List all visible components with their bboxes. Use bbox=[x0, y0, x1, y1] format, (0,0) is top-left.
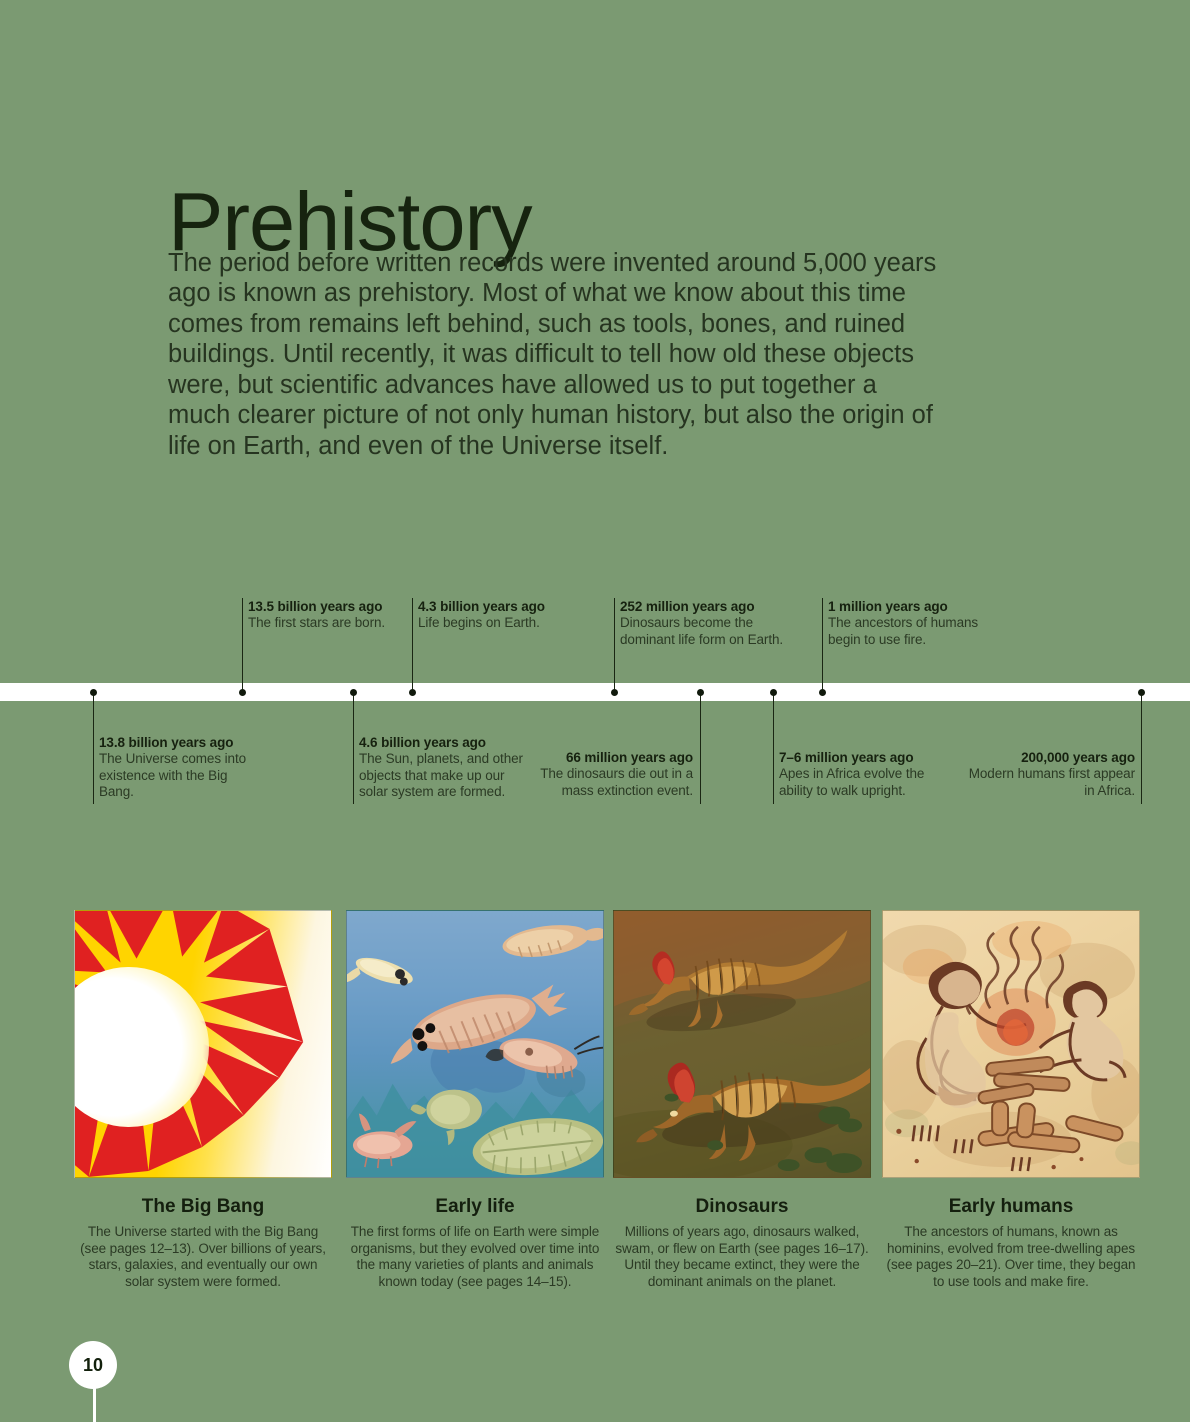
timeline-event-year: 200,000 years ago bbox=[965, 749, 1135, 766]
big-bang-starburst-icon bbox=[74, 910, 332, 1178]
card-big-bang[interactable]: The Big Bang The Universe started with t… bbox=[74, 910, 332, 1290]
timeline-event-year: 13.8 billion years ago bbox=[99, 734, 259, 751]
timeline-event-desc: Modern humans first appear in Africa. bbox=[965, 766, 1135, 799]
timeline-stem-above-3 bbox=[614, 598, 615, 692]
timeline-dot[interactable] bbox=[409, 689, 416, 696]
timeline-event-above[interactable]: 4.3 billion years ago Life begins on Ear… bbox=[418, 598, 603, 632]
timeline-stem-below-4 bbox=[773, 692, 774, 804]
timeline-event-below[interactable]: 7–6 million years ago Apes in Africa evo… bbox=[779, 749, 949, 799]
timeline-event-desc: The Universe comes into existence with t… bbox=[99, 751, 259, 801]
timeline-event-below[interactable]: 13.8 billion years ago The Universe come… bbox=[99, 734, 259, 801]
timeline-dot[interactable] bbox=[697, 689, 704, 696]
early-humans-cave-painting-icon bbox=[882, 910, 1140, 1178]
timeline-dot[interactable] bbox=[819, 689, 826, 696]
timeline-stem-below-5 bbox=[1141, 692, 1142, 804]
timeline-stem-above-2 bbox=[412, 598, 413, 692]
timeline-event-below[interactable]: 4.6 billion years ago The Sun, planets, … bbox=[359, 734, 531, 801]
timeline-dot[interactable] bbox=[350, 689, 357, 696]
cambrian-sea-icon bbox=[346, 910, 604, 1178]
timeline-event-year: 13.5 billion years ago bbox=[248, 598, 408, 615]
card-text: Millions of years ago, dinosaurs walked,… bbox=[613, 1224, 871, 1290]
timeline-event-desc: The dinosaurs die out in a mass extincti… bbox=[525, 766, 693, 799]
card-text: The first forms of life on Earth were si… bbox=[346, 1224, 604, 1290]
card-text: The Universe started with the Big Bang (… bbox=[74, 1224, 332, 1290]
timeline-dot[interactable] bbox=[611, 689, 618, 696]
page-number: 10 bbox=[69, 1341, 117, 1389]
timeline-event-year: 1 million years ago bbox=[828, 598, 1000, 615]
timeline-event-desc: The ancestors of humans begin to use fir… bbox=[828, 615, 1000, 648]
timeline-event-year: 66 million years ago bbox=[525, 749, 693, 766]
timeline-event-year: 252 million years ago bbox=[620, 598, 798, 615]
timeline-event-year: 7–6 million years ago bbox=[779, 749, 949, 766]
timeline-event-below[interactable]: 66 million years ago The dinosaurs die o… bbox=[525, 749, 693, 799]
timeline-event-above[interactable]: 13.5 billion years ago The first stars a… bbox=[248, 598, 408, 632]
card-title: Early humans bbox=[882, 1196, 1140, 1218]
card-title: The Big Bang bbox=[74, 1196, 332, 1218]
timeline-dot[interactable] bbox=[770, 689, 777, 696]
timeline-stem-below-3 bbox=[700, 692, 701, 804]
timeline-stem-above-1 bbox=[242, 598, 243, 692]
timeline-event-year: 4.6 billion years ago bbox=[359, 734, 531, 751]
card-early-life[interactable]: Early life The first forms of life on Ea… bbox=[346, 910, 604, 1290]
card-title: Early life bbox=[346, 1196, 604, 1218]
timeline-dot[interactable] bbox=[1138, 689, 1145, 696]
timeline-dot[interactable] bbox=[239, 689, 246, 696]
card-title: Dinosaurs bbox=[613, 1196, 871, 1218]
timeline-event-desc: Dinosaurs become the dominant life form … bbox=[620, 615, 798, 648]
card-dinosaurs[interactable]: Dinosaurs Millions of years ago, dinosau… bbox=[613, 910, 871, 1290]
timeline-event-desc: Life begins on Earth. bbox=[418, 615, 603, 632]
parasaurolophus-dinosaurs-icon bbox=[613, 910, 871, 1178]
timeline-event-desc: The Sun, planets, and other objects that… bbox=[359, 751, 531, 801]
timeline-stem-below-1 bbox=[93, 692, 94, 804]
timeline-dot[interactable] bbox=[90, 689, 97, 696]
timeline-event-below[interactable]: 200,000 years ago Modern humans first ap… bbox=[965, 749, 1135, 799]
timeline-event-above[interactable]: 1 million years ago The ancestors of hum… bbox=[828, 598, 1000, 648]
timeline-event-above[interactable]: 252 million years ago Dinosaurs become t… bbox=[620, 598, 798, 648]
timeline-stem-above-4 bbox=[822, 598, 823, 692]
timeline-event-year: 4.3 billion years ago bbox=[418, 598, 603, 615]
intro-paragraph: The period before written records were i… bbox=[168, 248, 938, 462]
timeline-event-desc: The first stars are born. bbox=[248, 615, 408, 632]
timeline-event-desc: Apes in Africa evolve the ability to wal… bbox=[779, 766, 949, 799]
timeline-stem-below-2 bbox=[353, 692, 354, 804]
timeline-band bbox=[0, 683, 1190, 701]
prehistory-page: Prehistory The period before written rec… bbox=[0, 0, 1190, 1422]
card-text: The ancestors of humans, known as homini… bbox=[882, 1224, 1140, 1290]
card-early-humans[interactable]: Early humans The ancestors of humans, kn… bbox=[882, 910, 1140, 1290]
